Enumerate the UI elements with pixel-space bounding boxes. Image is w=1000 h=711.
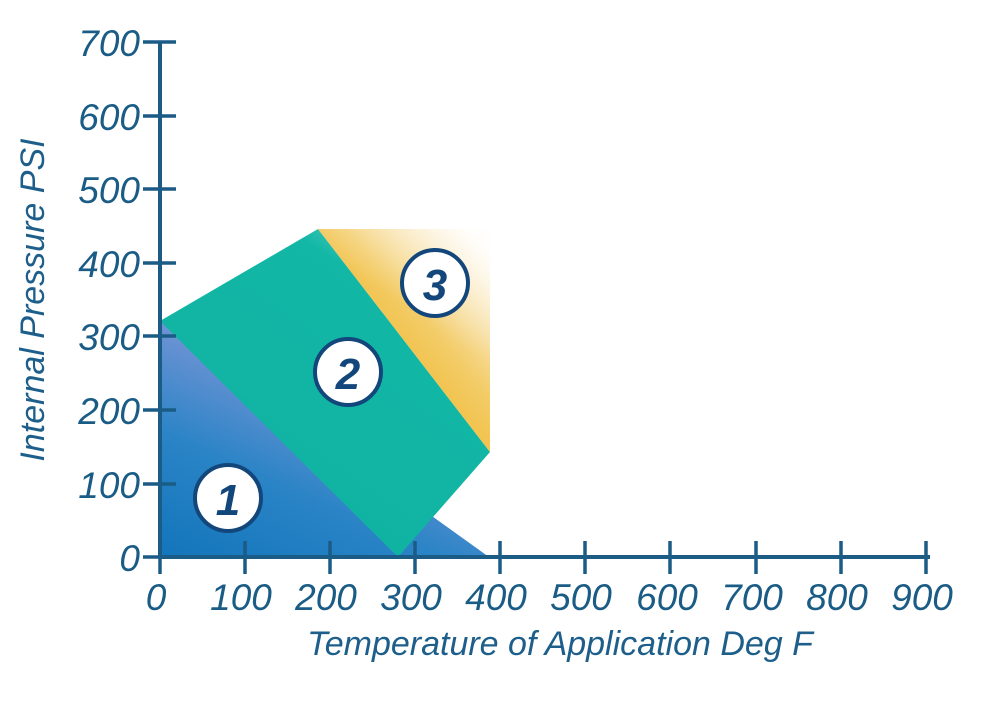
x-tick-label-500: 500: [550, 577, 612, 618]
y-tick-label-0: 0: [119, 538, 140, 579]
x-tick-label-0: 0: [146, 577, 167, 618]
y-axis-tick-labels: 0 100 200 300 400 500 600 700: [77, 23, 140, 579]
x-tick-label-300: 300: [380, 577, 442, 618]
x-axis-tick-labels: 0 100 200 300 400 500 600 700 800 900: [146, 577, 954, 618]
x-tick-label-100: 100: [210, 577, 272, 618]
x-tick-label-400: 400: [465, 577, 527, 618]
zone-marker-3-label: 3: [423, 261, 447, 310]
y-tick-label-100: 100: [78, 465, 140, 506]
zone-marker-3[interactable]: 3: [402, 250, 468, 316]
y-tick-label-200: 200: [77, 391, 140, 432]
chart-container: 0 100 200 300 400 500 600 700 0 100 200 …: [0, 0, 1000, 711]
y-tick-label-700: 700: [78, 23, 140, 64]
x-tick-label-900: 900: [891, 577, 953, 618]
y-tick-label-300: 300: [78, 317, 140, 358]
application-chart: 0 100 200 300 400 500 600 700 0 100 200 …: [0, 0, 1000, 711]
x-tick-label-600: 600: [636, 577, 698, 618]
y-tick-label-400: 400: [78, 244, 140, 285]
zone-marker-2-label: 2: [335, 350, 361, 399]
x-tick-label-700: 700: [721, 577, 783, 618]
x-tick-label-200: 200: [294, 577, 357, 618]
zone-marker-1-label: 1: [216, 476, 240, 525]
x-tick-label-800: 800: [806, 577, 868, 618]
y-tick-label-600: 600: [78, 97, 140, 138]
x-axis-title: Temperature of Application Deg F: [307, 625, 815, 663]
y-tick-label-500: 500: [78, 170, 140, 211]
zone-marker-2[interactable]: 2: [315, 339, 381, 405]
zone-marker-1[interactable]: 1: [195, 465, 261, 531]
y-axis-title: Internal Pressure PSI: [14, 138, 52, 462]
